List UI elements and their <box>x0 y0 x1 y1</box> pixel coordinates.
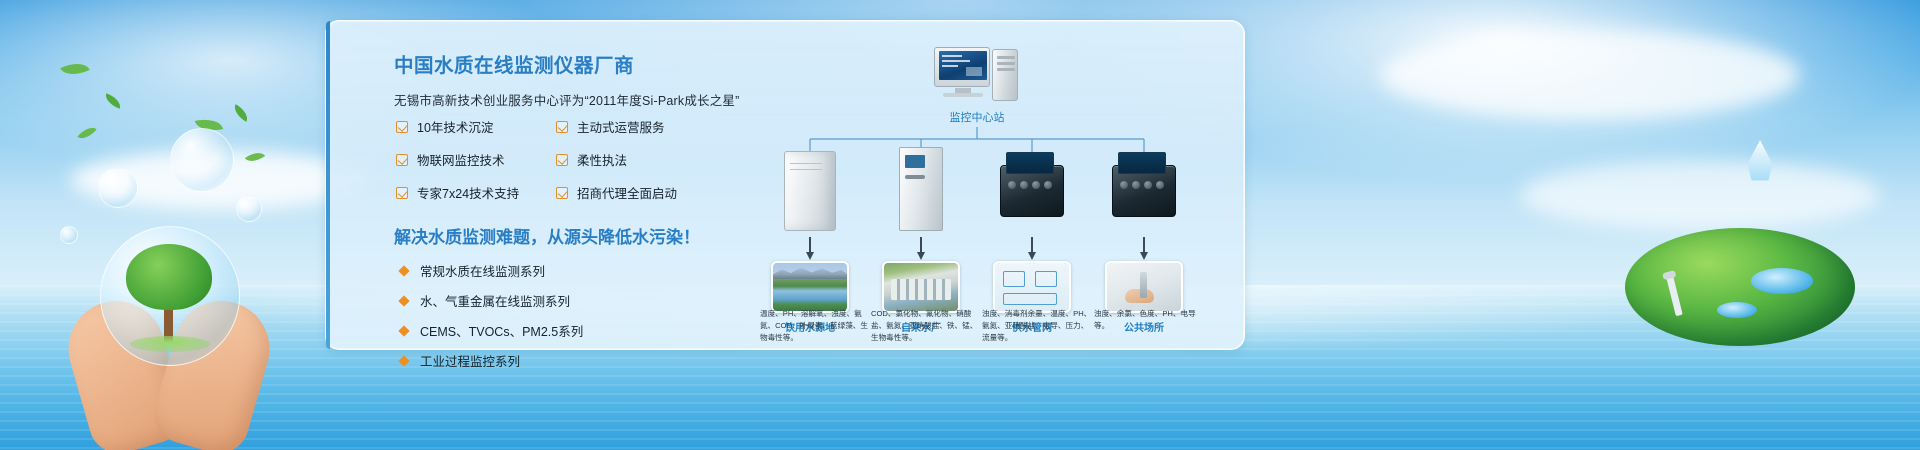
flow-arrow-icon <box>1143 237 1145 253</box>
feature-item[interactable]: 主动式运营服务 <box>556 117 716 136</box>
list-item-label: 水、气重金属在线监测系列 <box>420 291 570 310</box>
list-item[interactable]: 工业过程监控系列 <box>400 351 583 370</box>
grass-globe-ball <box>1625 228 1855 346</box>
scenario-photo-pipe-network[interactable] <box>993 261 1071 313</box>
feature-row: 物联网监控技术 柔性执法 <box>396 150 716 169</box>
feature-item[interactable]: 柔性执法 <box>556 150 716 169</box>
headline-block: 中国水质在线监测仪器厂商 无锡市高新技术创业服务中心评为“2011年度Si-Pa… <box>394 49 724 109</box>
checkbox-icon <box>396 121 408 133</box>
feature-item[interactable]: 专家7x24技术支持 <box>396 183 556 202</box>
monitoring-center-computer <box>934 47 1020 103</box>
feature-item[interactable]: 物联网监控技术 <box>396 150 556 169</box>
checkbox-icon <box>396 154 408 166</box>
page-subtitle: 无锡市高新技术创业服务中心评为“2011年度Si-Park成长之星” <box>394 90 724 109</box>
bubble <box>98 168 138 208</box>
content-panel: 中国水质在线监测仪器厂商 无锡市高新技术创业服务中心评为“2011年度Si-Pa… <box>325 20 1245 350</box>
list-item-label: CEMS、TVOCs、PM2.5系列 <box>420 321 583 340</box>
checkbox-icon <box>556 187 568 199</box>
device-cabinet-analyzer[interactable] <box>776 147 844 233</box>
tree-crown <box>126 244 212 310</box>
device-knob <box>905 175 925 179</box>
list-item[interactable]: CEMS、TVOCs、PM2.5系列 <box>400 321 583 340</box>
photo-artwork <box>773 263 847 311</box>
checkbox-icon <box>556 154 568 166</box>
diamond-bullet-icon <box>398 355 409 366</box>
list-item-label: 常规水质在线监测系列 <box>420 261 545 280</box>
globe-lake <box>1751 268 1813 294</box>
feature-label: 10年技术沉淀 <box>417 117 493 136</box>
scenario-photo-source-water[interactable] <box>771 261 849 313</box>
monitor-screen <box>939 51 987 80</box>
list-item[interactable]: 水、气重金属在线监测系列 <box>400 291 583 310</box>
diamond-bullet-icon <box>398 325 409 336</box>
grass-globe <box>1625 228 1855 346</box>
list-item[interactable]: 常规水质在线监测系列 <box>400 261 583 280</box>
scenario-params: 浊度、余氯、色度、PH、电导等。 <box>1094 308 1206 332</box>
flow-arrow-icon <box>920 237 922 253</box>
checkbox-icon <box>556 121 568 133</box>
globe-lake <box>1717 302 1757 318</box>
photo-artwork <box>995 263 1069 311</box>
device-screen <box>1006 152 1054 174</box>
scenario-params: 温度、PH、溶解氧、浊度、氨氮、COD、叶绿素、蓝绿藻、生物毒性等。 <box>760 308 872 343</box>
scenario-params: COD、氯化物、氟化物、硝酸盐、氨氮、亚硝酸盐、铁、锰、生物毒性等。 <box>871 308 983 343</box>
tree-base <box>130 336 210 352</box>
flow-arrow-icon <box>1031 237 1033 253</box>
scenario-params: 浊度、消毒剂余量、温度、PH、氨氮、亚硝酸盐、电导、压力、流量等。 <box>982 308 1094 343</box>
monitoring-center-label: 监控中心站 <box>892 109 1062 125</box>
checkbox-icon <box>396 187 408 199</box>
device-rack-analyzer[interactable] <box>887 145 955 231</box>
system-diagram: 监控中心站 <box>766 35 1226 345</box>
diamond-bullet-icon <box>398 265 409 276</box>
photo-artwork <box>884 263 958 311</box>
feature-label: 专家7x24技术支持 <box>417 183 519 202</box>
device-buttons[interactable] <box>1008 179 1052 193</box>
device-screen <box>1118 152 1166 174</box>
device-buttons[interactable] <box>1120 179 1164 193</box>
feature-item[interactable]: 招商代理全面启动 <box>556 183 716 202</box>
feature-item[interactable]: 10年技术沉淀 <box>396 117 556 136</box>
feature-list: 10年技术沉淀 主动式运营服务 物联网监控技术 柔性执法 专家7x24技术支持 <box>396 117 716 216</box>
feature-label: 招商代理全面启动 <box>577 183 677 202</box>
hands-holding-tree <box>70 220 300 450</box>
feature-row: 专家7x24技术支持 招商代理全面启动 <box>396 183 716 202</box>
device-controller-narrow[interactable] <box>1110 147 1178 233</box>
cloud <box>1380 30 1800 120</box>
cloud <box>1520 160 1880 230</box>
device-screen <box>905 155 925 168</box>
product-series-list: 常规水质在线监测系列 水、气重金属在线监测系列 CEMS、TVOCs、PM2.5… <box>400 261 583 381</box>
scenario-photo-waterworks[interactable] <box>882 261 960 313</box>
flow-arrow-icon <box>809 237 811 253</box>
bubble <box>236 196 262 222</box>
feature-label: 柔性执法 <box>577 150 627 169</box>
monitor-base <box>943 93 983 97</box>
photo-artwork <box>1107 263 1181 311</box>
pc-tower-icon <box>992 49 1018 101</box>
feature-row: 10年技术沉淀 主动式运营服务 <box>396 117 716 136</box>
section-heading: 解决水质监测难题，从源头降低水污染！ <box>394 223 700 248</box>
list-item-label: 工业过程监控系列 <box>420 351 520 370</box>
feature-label: 物联网监控技术 <box>417 150 505 169</box>
page-title: 中国水质在线监测仪器厂商 <box>394 49 724 78</box>
feature-label: 主动式运营服务 <box>577 117 665 136</box>
bubble <box>170 128 234 192</box>
diamond-bullet-icon <box>398 295 409 306</box>
device-controller-wide[interactable] <box>998 147 1066 233</box>
scenario-photo-public-place[interactable] <box>1105 261 1183 313</box>
monitor-icon <box>934 47 990 87</box>
